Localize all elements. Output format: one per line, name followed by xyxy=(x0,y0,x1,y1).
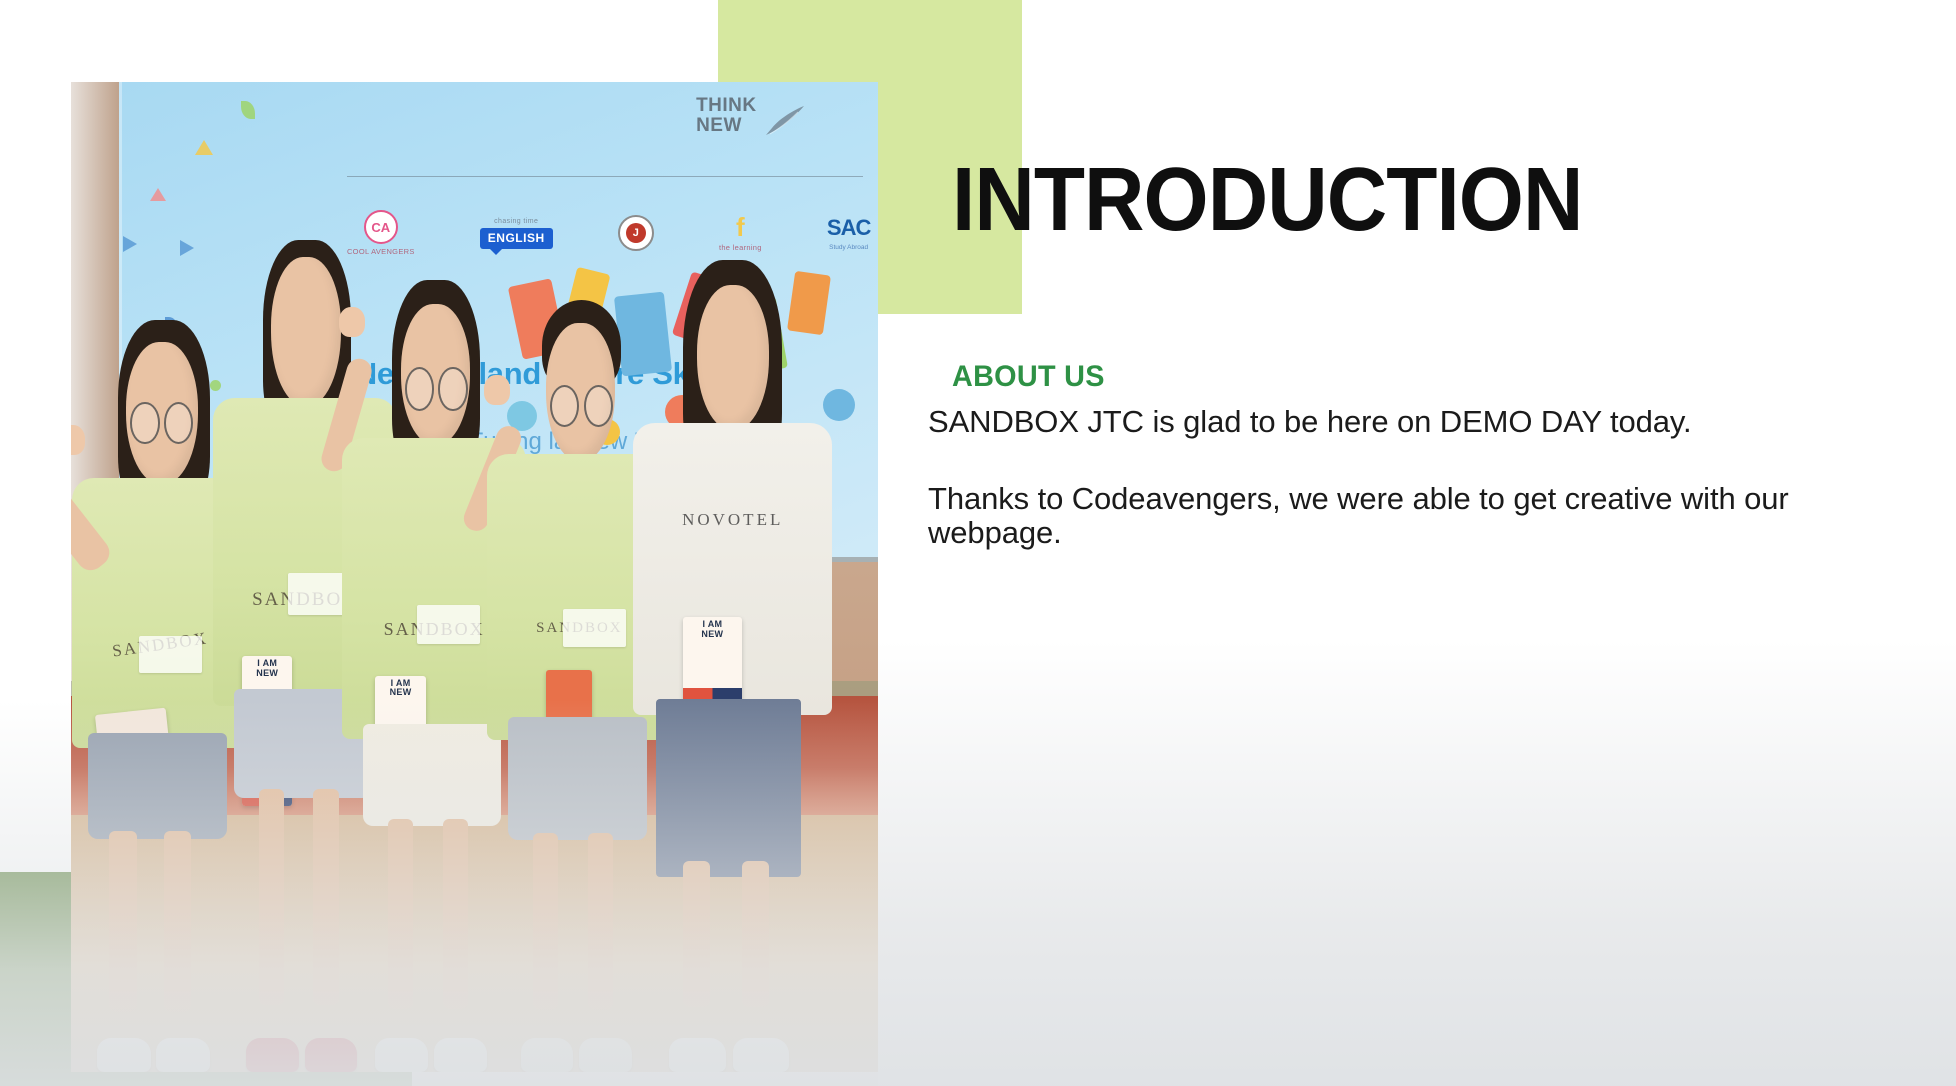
background-gradient-right xyxy=(878,640,1956,1086)
the-learning-label: the learning xyxy=(719,243,762,252)
sponsor-chasing-time-english: chasing time ENGLISH xyxy=(480,218,553,249)
card-line-2: NEW xyxy=(256,669,278,678)
confetti-arrow-blue-2-icon xyxy=(180,240,194,256)
paragraph-1: SANDBOX JTC is glad to be here on DEMO D… xyxy=(928,405,1928,440)
think-new-line-2: NEW xyxy=(696,116,757,135)
sac-sub-label: Study Abroad xyxy=(829,244,868,251)
body-copy: SANDBOX JTC is glad to be here on DEMO D… xyxy=(928,405,1928,551)
novotel-brand-text: NOVOTEL xyxy=(633,510,832,530)
cool-avengers-mark-icon: CA xyxy=(364,210,398,244)
slide-canvas: THINK NEW CA COOL AVENGERS chasing time xyxy=(0,0,1956,1086)
paragraph-2: Thanks to Codeavengers, we were able to … xyxy=(928,482,1928,551)
circle-emblem-icon: J xyxy=(618,215,654,251)
confetti-arrow-blue-icon xyxy=(123,236,137,252)
think-new-logo: THINK NEW xyxy=(696,96,757,135)
think-new-line-1: THINK xyxy=(696,96,757,115)
card-3-line-2: NEW xyxy=(701,630,723,639)
english-badge: ENGLISH xyxy=(480,228,553,249)
page-title: INTRODUCTION xyxy=(952,155,1582,245)
student-5: NOVOTEL I AM NEW xyxy=(620,260,846,1072)
the-learning-mark-icon: f xyxy=(736,214,745,240)
sponsor-sac: SAC Study Abroad xyxy=(827,215,870,251)
confetti-triangle-pink-icon xyxy=(150,188,166,201)
screen-divider xyxy=(347,176,863,177)
card-2-line-2: NEW xyxy=(390,688,412,697)
group-photo: THINK NEW CA COOL AVENGERS chasing time xyxy=(71,82,878,1072)
sac-mark-icon: SAC xyxy=(827,215,870,241)
sponsor-the-learning: f the learning xyxy=(719,214,762,252)
confetti-triangle-icon xyxy=(195,140,213,155)
section-heading-about-us: ABOUT US xyxy=(952,360,1105,394)
circle-emblem-mark: J xyxy=(626,223,646,243)
silver-fern-icon xyxy=(764,104,806,138)
chasing-time-label: chasing time xyxy=(494,218,538,225)
sponsor-circle-emblem: J xyxy=(618,215,654,251)
